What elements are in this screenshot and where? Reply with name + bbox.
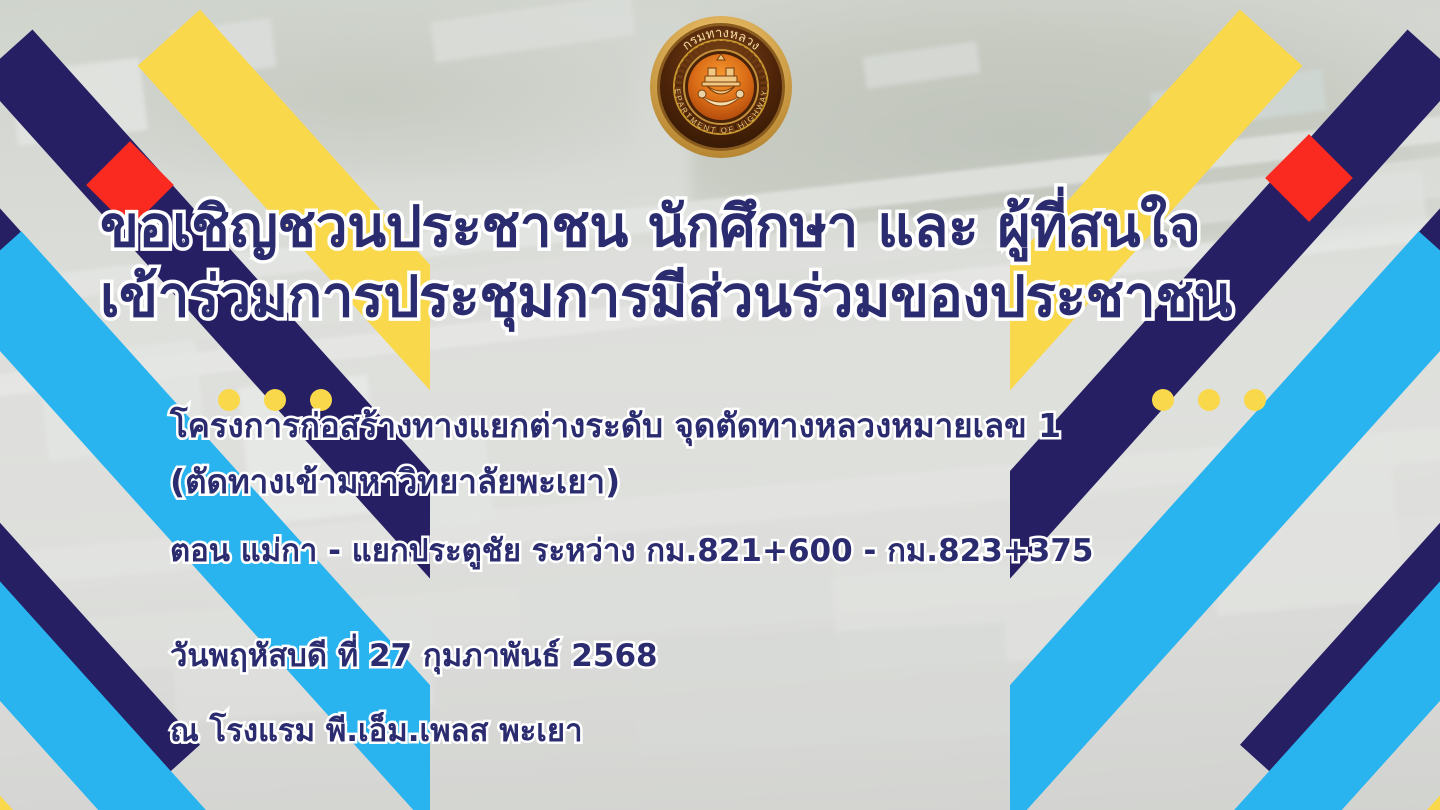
headline-line-2: เข้าร่วมการประชุมการมีส่วนร่วมของประชาชน — [100, 268, 1340, 327]
headline-line-1: ขอเชิญชวนประชาชน นักศึกษา และ ผู้ที่สนใจ — [100, 198, 1340, 257]
event-venue: ณ โรงแรม พี.เอ็ม.เพลส พะเยา — [170, 705, 1270, 755]
project-title-line-2: (ตัดทางเข้ามหาวิทยาลัยพะเยา) — [170, 455, 1270, 508]
event-date: วันพฤหัสบดี ที่ 27 กุมภาพันธ์ 2568 — [170, 630, 1270, 680]
poster-canvas: กรมทางหลวง DEPARTMENT OF HIGHWAYS ขอเชิญ… — [0, 0, 1440, 810]
project-section-range: ตอน แม่กา - แยกประตูชัย ระหว่าง กม.821+6… — [170, 525, 1270, 575]
department-of-highways-seal-icon: กรมทางหลวง DEPARTMENT OF HIGHWAYS — [647, 8, 795, 158]
project-title-line-1: โครงการก่อสร้างทางแยกต่างระดับ จุดตัดทาง… — [170, 399, 1270, 452]
